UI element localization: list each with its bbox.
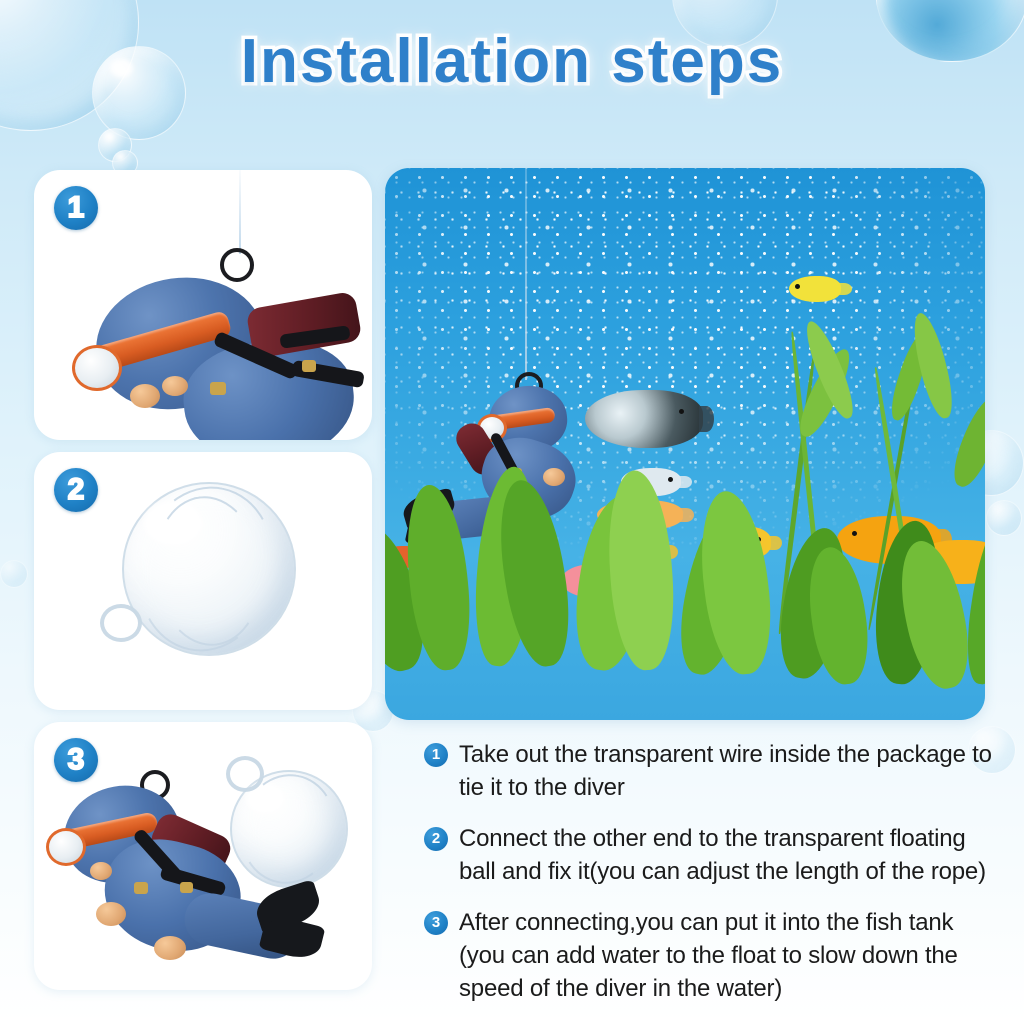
instruction-text-3: After connecting,you can put it into the…	[459, 906, 1004, 1005]
instruction-item-1: 1 Take out the transparent wire inside t…	[424, 738, 1004, 804]
decorative-bubble-icon	[0, 560, 28, 588]
step-badge-3: 3	[54, 738, 98, 782]
fish-yellow-top	[789, 276, 841, 302]
instruction-number-3: 3	[424, 911, 448, 935]
instruction-list: 1 Take out the transparent wire inside t…	[424, 738, 1004, 1023]
step-badge-2: 2	[54, 468, 98, 512]
step-card-3: 3	[34, 722, 372, 990]
step-badge-1: 1	[54, 186, 98, 230]
instruction-text-2: Connect the other end to the transparent…	[459, 822, 1004, 888]
step-card-1: 1	[34, 170, 372, 440]
instruction-item-2: 2 Connect the other end to the transpare…	[424, 822, 1004, 888]
decorative-bubble-icon	[986, 500, 1022, 536]
instruction-number-1: 1	[424, 743, 448, 767]
step-card-2: 2	[34, 452, 372, 710]
decorative-bubble-icon	[98, 128, 132, 162]
instruction-number-2: 2	[424, 827, 448, 851]
aquarium-photo	[385, 168, 985, 720]
instruction-text-1: Take out the transparent wire inside the…	[459, 738, 1004, 804]
instruction-item-3: 3 After connecting,you can put it into t…	[424, 906, 1004, 1005]
page-title: Installation steps	[0, 26, 1024, 97]
aquarium-plants	[385, 460, 985, 720]
fish-gourami	[585, 390, 703, 448]
